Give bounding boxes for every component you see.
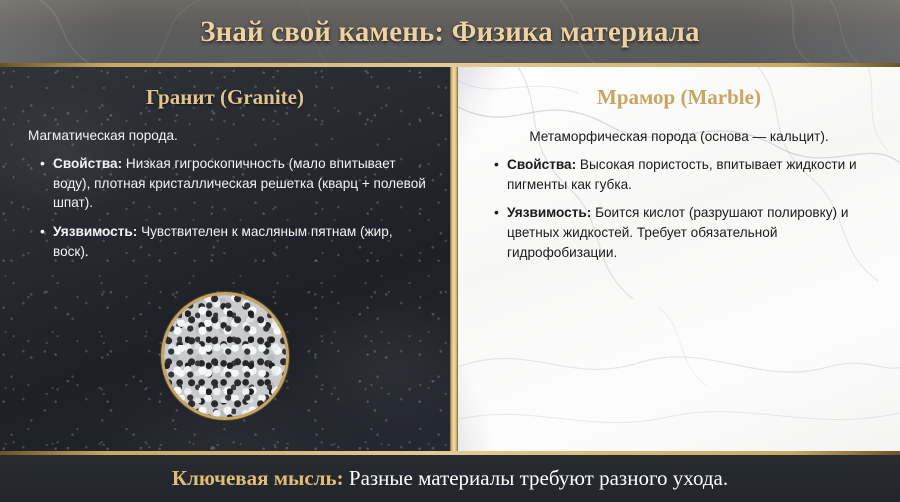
panel-granite: Гранит (Granite) Магматическая порода. С…: [0, 67, 450, 451]
comparison-panels: Гранит (Granite) Магматическая порода. С…: [0, 67, 900, 451]
key-takeaway: Ключевая мысль: Разные материалы требуют…: [172, 466, 728, 491]
bullet-label: Уязвимость:: [507, 205, 591, 220]
panel-divider: [450, 67, 458, 451]
footer-banner: Ключевая мысль: Разные материалы требуют…: [0, 451, 900, 502]
header-banner: Знай свой камень: Физика материала: [0, 0, 900, 67]
granite-heading: Гранит (Granite): [0, 85, 450, 110]
footer-gold-rule: [0, 451, 900, 455]
panel-marble: Мрамор (Marble) Метаморфическая порода (…: [458, 67, 900, 451]
page-title: Знай свой камень: Физика материала: [18, 0, 882, 63]
marble-lead-text: Метаморфическая порода (основа — кальцит…: [458, 127, 900, 146]
bullet-label: Свойства:: [53, 156, 122, 171]
list-item: Свойства: Высокая пористость, впитывает …: [494, 155, 874, 194]
marble-bullet-list: Свойства: Высокая пористость, впитывает …: [494, 155, 874, 262]
bullet-label: Свойства:: [507, 157, 576, 172]
key-takeaway-label: Ключевая мысль:: [172, 466, 344, 490]
key-takeaway-statement: Разные материалы требуют разного ухода.: [344, 466, 729, 490]
list-item: Уязвимость: Чувствителен к масляным пятн…: [40, 222, 432, 261]
granite-bullet-list: Свойства: Низкая гигроскопичность (мало …: [40, 154, 432, 261]
bullet-label: Уязвимость:: [53, 224, 137, 239]
list-item: Свойства: Низкая гигроскопичность (мало …: [40, 154, 432, 213]
list-item: Уязвимость: Боится кислот (разрушают пол…: [494, 203, 874, 262]
granite-lead-text: Магматическая порода.: [28, 126, 450, 145]
marble-heading: Мрамор (Marble): [458, 85, 900, 110]
slide-root: Знай свой камень: Физика материала Грани…: [0, 0, 900, 502]
